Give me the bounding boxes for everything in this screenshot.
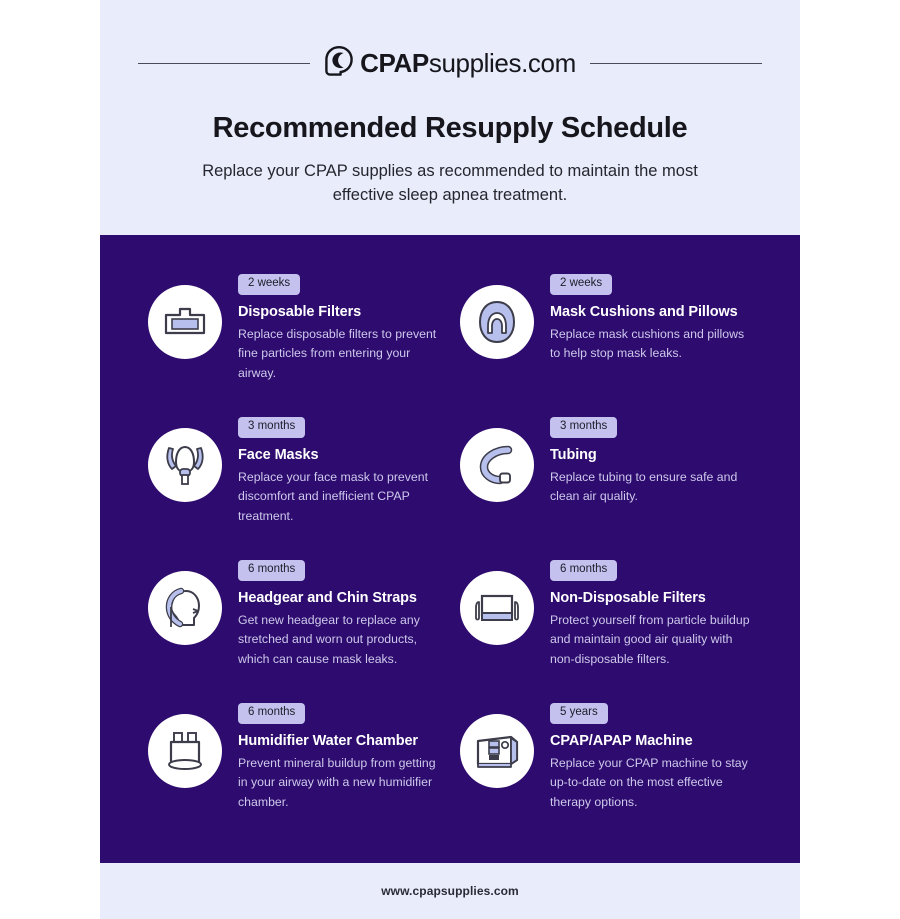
footer-website-link[interactable]: www.cpapsupplies.com [381,884,519,898]
status-badge: 6 months [238,703,305,724]
item-text: 5 years CPAP/APAP Machine Replace your C… [550,700,750,813]
divider-right [590,63,762,64]
status-badge: 6 months [550,560,617,581]
brand-name-regular: supplies.com [429,48,576,78]
item-description: Protect yourself from particle buildup a… [550,611,750,671]
item-description: Replace your CPAP machine to stay up-to-… [550,754,750,814]
item-description: Replace your face mask to prevent discom… [238,468,438,528]
footer: www.cpapsupplies.com [100,863,800,919]
item-description: Get new headgear to replace any stretche… [238,611,438,671]
schedule-item-disposable-filters[interactable]: 2 weeks Disposable Filters Replace dispo… [148,271,446,414]
item-title: Non-Disposable Filters [550,590,750,606]
status-badge: 3 months [550,417,617,438]
disposable-filter-icon [162,299,208,345]
schedule-item-humidifier-chamber[interactable]: 6 months Humidifier Water Chamber Preven… [148,700,446,843]
logo-row: CPAPsupplies.com [100,40,800,86]
item-text: 2 weeks Disposable Filters Replace dispo… [238,271,438,384]
item-title: Headgear and Chin Straps [238,590,438,606]
non-disposable-filter-icon [473,588,521,628]
item-description: Replace tubing to ensure safe and clean … [550,468,750,508]
schedule-item-tubing[interactable]: 3 months Tubing Replace tubing to ensure… [460,414,758,557]
page-title: Recommended Resupply Schedule [100,112,800,145]
item-title: Humidifier Water Chamber [238,733,438,749]
brand-name-bold: CPAP [360,48,429,78]
icon-badge [148,285,222,359]
schedule-grid: 2 weeks Disposable Filters Replace dispo… [148,271,758,843]
status-badge: 2 weeks [550,274,612,295]
item-text: 6 months Headgear and Chin Straps Get ne… [238,557,438,670]
moon-bubble-icon [324,45,354,82]
infographic-page: CPAPsupplies.com Recommended Resupply Sc… [0,0,900,900]
icon-badge [460,714,534,788]
item-title: Face Masks [238,447,438,463]
item-description: Replace mask cushions and pillows to hel… [550,325,750,365]
icon-badge [460,571,534,645]
humidifier-chamber-icon [162,728,208,774]
item-description: Prevent mineral buildup from getting in … [238,754,438,814]
divider-left [138,63,310,64]
status-badge: 5 years [550,703,608,724]
icon-badge [460,285,534,359]
item-text: 6 months Humidifier Water Chamber Preven… [238,700,438,813]
schedule-item-mask-cushions[interactable]: 2 weeks Mask Cushions and Pillows Replac… [460,271,758,414]
icon-badge [148,428,222,502]
status-badge: 3 months [238,417,305,438]
infographic-sheet: CPAPsupplies.com Recommended Resupply Sc… [100,0,800,900]
header: CPAPsupplies.com Recommended Resupply Sc… [100,0,800,235]
status-badge: 6 months [238,560,305,581]
item-text: 6 months Non-Disposable Filters Protect … [550,557,750,670]
schedule-item-non-disposable-filters[interactable]: 6 months Non-Disposable Filters Protect … [460,557,758,700]
item-text: 3 months Face Masks Replace your face ma… [238,414,438,527]
item-description: Replace disposable filters to prevent fi… [238,325,438,385]
item-title: Tubing [550,447,750,463]
mask-cushion-icon [475,299,519,345]
schedule-item-cpap-machine[interactable]: 5 years CPAP/APAP Machine Replace your C… [460,700,758,843]
cpap-machine-icon [473,731,521,771]
icon-badge [148,571,222,645]
brand-logo[interactable]: CPAPsupplies.com [324,45,576,82]
schedule-item-face-masks[interactable]: 3 months Face Masks Replace your face ma… [148,414,446,557]
item-text: 3 months Tubing Replace tubing to ensure… [550,414,750,507]
item-title: CPAP/APAP Machine [550,733,750,749]
icon-badge [460,428,534,502]
item-title: Disposable Filters [238,304,438,320]
schedule-item-headgear[interactable]: 6 months Headgear and Chin Straps Get ne… [148,557,446,700]
icon-badge [148,714,222,788]
item-title: Mask Cushions and Pillows [550,304,750,320]
brand-name: CPAPsupplies.com [360,48,576,79]
page-subtitle: Replace your CPAP supplies as recommende… [190,159,710,208]
status-badge: 2 weeks [238,274,300,295]
face-mask-icon [161,442,209,488]
tubing-icon [475,443,519,487]
headgear-icon [163,585,207,631]
schedule-panel: 2 weeks Disposable Filters Replace dispo… [100,235,800,863]
item-text: 2 weeks Mask Cushions and Pillows Replac… [550,271,750,364]
